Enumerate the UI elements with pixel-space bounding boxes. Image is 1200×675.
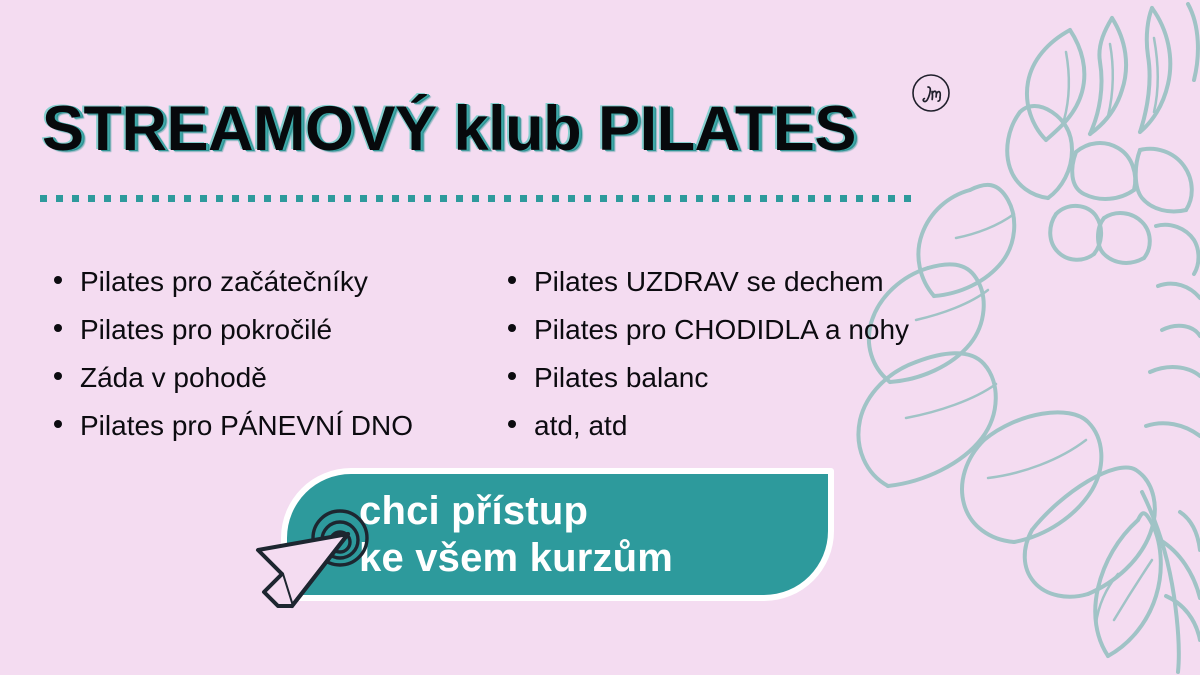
course-item-label: Pilates pro PÁNEVNÍ DNO (80, 412, 413, 440)
list-item: Pilates pro PÁNEVNÍ DNO (48, 412, 508, 440)
divider-dot (440, 195, 447, 202)
course-list-left-column: Pilates pro začátečníkyPilates pro pokro… (48, 268, 508, 460)
page-title: STREAMOVÝ klub PILATES (42, 96, 856, 162)
divider-dot (456, 195, 463, 202)
divider-dot (728, 195, 735, 202)
course-list-left: Pilates pro začátečníkyPilates pro pokro… (48, 268, 508, 440)
course-list-right-column: Pilates UZDRAV se dechemPilates pro CHOD… (508, 268, 1028, 460)
divider-dot (520, 195, 527, 202)
bullet-icon (54, 420, 62, 428)
divider-dot (104, 195, 111, 202)
list-item: Pilates balanc (508, 364, 1028, 392)
divider-dot (264, 195, 271, 202)
divider-dot (696, 195, 703, 202)
divider-dot (408, 195, 415, 202)
divider-dot (296, 195, 303, 202)
divider-dot (744, 195, 751, 202)
bullet-icon (508, 420, 516, 428)
divider-dot (328, 195, 335, 202)
cta-button-label: chci přístup ke všem kurzům (281, 487, 834, 581)
divider-dot (184, 195, 191, 202)
divider-dot (168, 195, 175, 202)
divider-dot (536, 195, 543, 202)
divider-dot (648, 195, 655, 202)
dotted-divider (40, 192, 926, 204)
divider-dot (488, 195, 495, 202)
course-item-label: Záda v pohodě (80, 364, 267, 392)
divider-dot (312, 195, 319, 202)
divider-dot (424, 195, 431, 202)
brand-monogram-logo (906, 66, 960, 120)
list-item: Pilates pro CHODIDLA a nohy (508, 316, 1028, 344)
cta-button[interactable]: chci přístup ke všem kurzům (281, 468, 834, 601)
slide-canvas: STREAMOVÝ klub PILATES Pilates pro začát… (0, 0, 1200, 675)
course-list-section: Pilates pro začátečníkyPilates pro pokro… (48, 268, 1048, 460)
divider-dot (600, 195, 607, 202)
cta-label-line-1: chci přístup (359, 487, 822, 534)
divider-dot (152, 195, 159, 202)
divider-dot (840, 195, 847, 202)
list-item: atd, atd (508, 412, 1028, 440)
list-item: Pilates pro pokročilé (48, 316, 508, 344)
bullet-icon (508, 372, 516, 380)
divider-dot (72, 195, 79, 202)
course-item-label: Pilates pro pokročilé (80, 316, 332, 344)
divider-dot (280, 195, 287, 202)
divider-dot (200, 195, 207, 202)
course-list-right: Pilates UZDRAV se dechemPilates pro CHOD… (508, 268, 1028, 440)
divider-dot (344, 195, 351, 202)
course-item-label: Pilates balanc (534, 364, 708, 392)
bullet-icon (54, 324, 62, 332)
course-item-label: Pilates UZDRAV se dechem (534, 268, 884, 296)
divider-dot (776, 195, 783, 202)
cta-label-line-2: ke všem kurzům (359, 535, 822, 582)
divider-dot (232, 195, 239, 202)
divider-dot (88, 195, 95, 202)
divider-dot (216, 195, 223, 202)
divider-dot (616, 195, 623, 202)
list-item: Pilates UZDRAV se dechem (508, 268, 1028, 296)
divider-dot (872, 195, 879, 202)
divider-dot (392, 195, 399, 202)
course-item-label: Pilates pro CHODIDLA a nohy (534, 316, 909, 344)
divider-dot (56, 195, 63, 202)
bullet-icon (508, 276, 516, 284)
divider-dot (552, 195, 559, 202)
bullet-icon (508, 324, 516, 332)
divider-dot (568, 195, 575, 202)
divider-dot (472, 195, 479, 202)
list-item: Záda v pohodě (48, 364, 508, 392)
divider-dot (360, 195, 367, 202)
divider-dot (888, 195, 895, 202)
divider-dot (376, 195, 383, 202)
divider-dot (904, 195, 911, 202)
course-item-label: Pilates pro začátečníky (80, 268, 368, 296)
divider-dot (824, 195, 831, 202)
divider-dot (792, 195, 799, 202)
divider-dot (248, 195, 255, 202)
divider-dot (808, 195, 815, 202)
divider-dot (664, 195, 671, 202)
bullet-icon (54, 372, 62, 380)
divider-dot (584, 195, 591, 202)
bullet-icon (54, 276, 62, 284)
divider-dot (504, 195, 511, 202)
divider-dot (856, 195, 863, 202)
divider-dot (712, 195, 719, 202)
divider-dot (680, 195, 687, 202)
divider-dot (120, 195, 127, 202)
course-item-label: atd, atd (534, 412, 627, 440)
divider-dot (760, 195, 767, 202)
list-item: Pilates pro začátečníky (48, 268, 508, 296)
divider-dot (136, 195, 143, 202)
divider-dot (632, 195, 639, 202)
divider-dot (40, 195, 47, 202)
